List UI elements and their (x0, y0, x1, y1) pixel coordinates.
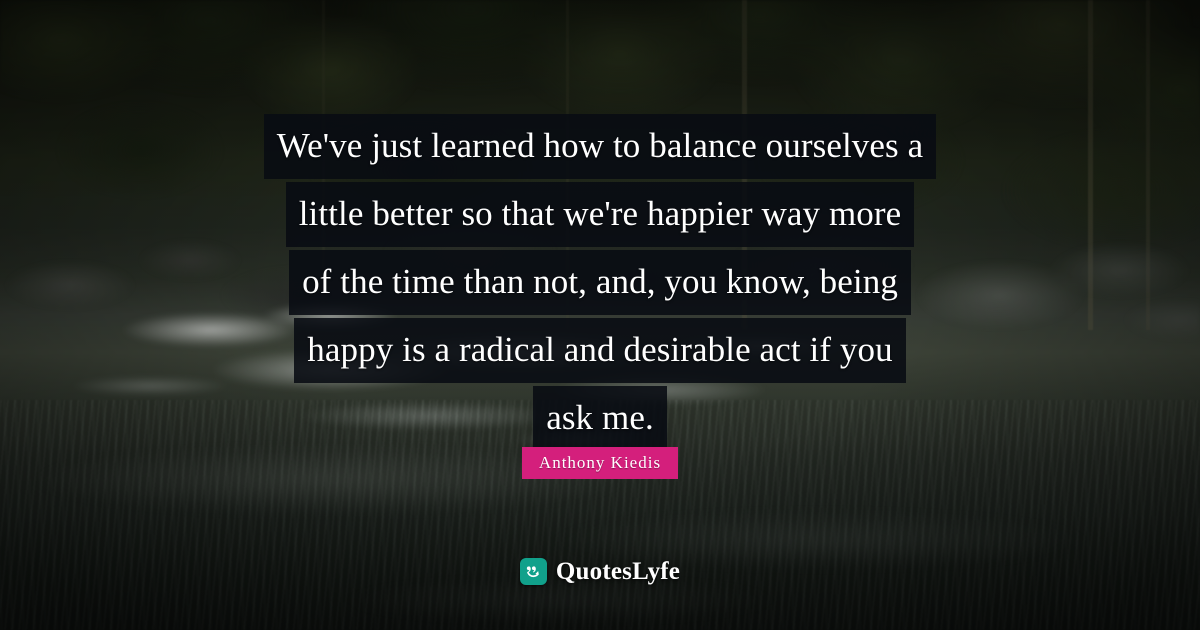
author-attribution: Anthony Kiedis (0, 447, 1200, 479)
quote-marks-icon (520, 558, 547, 585)
quote-line: little better so that we're happier way … (286, 182, 915, 247)
author-name-badge: Anthony Kiedis (522, 447, 678, 479)
brand-name: QuotesLyfe (556, 559, 680, 584)
quote-line: ask me. (533, 386, 667, 451)
quote-line: happy is a radical and desirable act if … (294, 318, 905, 383)
quote-line: We've just learned how to balance oursel… (264, 114, 937, 179)
quote-text-block: We've just learned how to balance oursel… (0, 114, 1200, 451)
brand-logo: QuotesLyfe (0, 558, 1200, 585)
quote-card: We've just learned how to balance oursel… (0, 0, 1200, 630)
quote-line: of the time than not, and, you know, bei… (289, 250, 911, 315)
